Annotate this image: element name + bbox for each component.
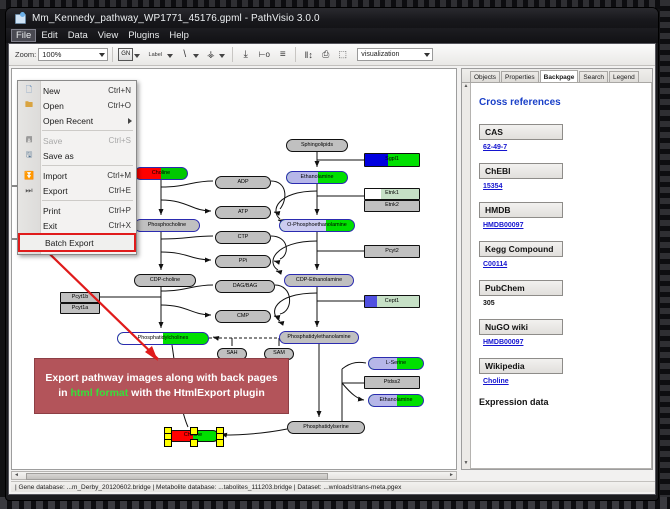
node-label: CDP-choline — [150, 278, 180, 283]
file-menu-item-open[interactable]: 🖿OpenCtrl+O — [18, 98, 136, 113]
scroll-left-icon[interactable]: ◄ — [12, 472, 21, 479]
selection-handle-1[interactable] — [190, 427, 198, 435]
node-label: Phosphocholine — [148, 223, 186, 228]
screen-frame-right — [660, 0, 670, 509]
xref-value-chebi[interactable]: 15354 — [483, 183, 643, 190]
toolbar-separator — [112, 47, 113, 62]
xref-value-hmdb[interactable]: HMDB00097 — [483, 222, 643, 229]
file-menu-item-label: Save — [40, 136, 109, 146]
xref-label-chebi: ChEBI — [479, 163, 563, 179]
node-label: Sgpl1 — [385, 157, 399, 162]
pathway-node-dagbag[interactable]: DAG/BAG — [215, 280, 275, 293]
interaction-icon: ⚶ — [207, 49, 215, 60]
node-label: Pcyt1a — [72, 306, 88, 311]
pathway-node-o-phosphoethanolamine[interactable]: O-Phosphoethanolamine — [279, 219, 355, 232]
line-icon: \ — [183, 49, 186, 60]
selection-handle-5[interactable] — [164, 439, 172, 447]
xref-label-pubchem: PubChem — [479, 280, 563, 296]
pathway-node-cdp-choline[interactable]: CDP-choline — [134, 274, 196, 287]
file-menu-item-label: Open Recent — [40, 116, 131, 126]
node-label: Pcyt2 — [385, 249, 398, 254]
chevron-down-icon — [99, 53, 105, 57]
save-as-icon: 🖫 — [18, 149, 40, 163]
save-disk-icon: 🖪 — [18, 134, 40, 148]
interaction-tool-button[interactable]: ⚶ — [203, 47, 218, 62]
tab-objects[interactable]: Objects — [470, 71, 500, 82]
open-folder-icon: 🖿 — [18, 99, 40, 113]
label-tool-button[interactable]: Label — [144, 47, 166, 62]
zoom-label: Zoom: — [15, 50, 36, 59]
tab-properties[interactable]: Properties — [501, 71, 539, 82]
file-menu-item-label: Save as — [40, 151, 131, 161]
menu-plugins[interactable]: Plugins — [123, 29, 164, 42]
status-bar: | Gene database: ...m_Derby_20120602.bri… — [11, 481, 655, 492]
file-menu-item-print[interactable]: PrintCtrl+P — [18, 203, 136, 218]
xref-value-kegg-compound[interactable]: C00114 — [483, 261, 643, 268]
file-menu-item-label: Import — [40, 171, 107, 181]
align-top-button[interactable]: ⤓ — [238, 47, 253, 62]
annotation-callout: Export pathway images along with back pa… — [34, 358, 289, 414]
node-label: Pcyt1b — [72, 295, 88, 300]
print-button[interactable]: ⎙ — [318, 47, 333, 62]
expression-data-heading: Expression data — [479, 397, 643, 407]
xref-label-wikipedia: Wikipedia — [479, 358, 563, 374]
xref-value-nugo-wiki[interactable]: HMDB00097 — [483, 339, 643, 346]
status-text: | Gene database: ...m_Derby_20120602.bri… — [15, 484, 401, 491]
file-menu-item-label: Batch Export — [42, 238, 129, 248]
file-menu-item-label: Open — [40, 101, 108, 111]
node-label: Ethanolamine — [380, 398, 413, 403]
file-menu-item-exit[interactable]: ExitCtrl+X — [18, 218, 136, 233]
toolbar-separator-2 — [232, 47, 233, 62]
title-bar: Mm_Kennedy_pathway_WP1771_45176.gpml - P… — [6, 8, 658, 28]
file-menu-item-batch-export[interactable]: Batch Export — [18, 233, 136, 252]
node-label: CDP-Ethanolamine — [296, 278, 342, 283]
tab-backpage[interactable]: Backpage — [540, 70, 579, 82]
callout-highlight: html format — [71, 387, 129, 399]
file-menu-item-new[interactable]: 🗋NewCtrl+N — [18, 83, 136, 98]
visualization-value: visualization — [361, 51, 399, 58]
xref-label-hmdb: HMDB — [479, 202, 563, 218]
xref-label-kegg-compound: Kegg Compound — [479, 241, 563, 257]
pathway-node-ctp[interactable]: CTP — [215, 231, 271, 244]
pathway-node-ppi[interactable]: PPi — [215, 255, 271, 268]
pathway-node-pcyt1b[interactable]: Pcyt1b — [60, 292, 100, 303]
sidebar-tabs: Objects Properties Backpage Search Legen… — [462, 69, 652, 83]
align-middle-button[interactable]: ⊢o — [255, 47, 273, 62]
scroll-down-icon[interactable]: ▼ — [462, 460, 470, 467]
import-icon: ⏬ — [18, 171, 40, 180]
chevron-down-icon — [424, 53, 430, 57]
interaction-dropdown-icon[interactable] — [219, 54, 225, 58]
node-label: Phosphatidylserine — [303, 425, 349, 430]
line-dropdown-icon[interactable] — [193, 54, 199, 58]
toolbar: Zoom: 100% GN Label \ — [9, 44, 655, 66]
node-label: ADP — [237, 180, 248, 185]
pathway-node-phosphatidylcholines[interactable]: Phosphatidylcholines — [117, 332, 209, 345]
file-menu-item-accelerator: Ctrl+P — [109, 206, 136, 215]
menu-data[interactable]: Data — [63, 29, 93, 42]
menu-edit[interactable]: Edit — [36, 29, 62, 42]
node-label: L-Serine — [386, 361, 406, 366]
pathway-node-atp[interactable]: ATP — [215, 206, 271, 219]
file-menu-item-accelerator: Ctrl+O — [108, 101, 136, 110]
file-menu-item-accelerator: Ctrl+S — [109, 136, 136, 145]
canvas-horizontal-scrollbar[interactable]: ◄ ► — [11, 471, 457, 480]
file-menu-item-accelerator: Ctrl+M — [107, 171, 136, 180]
tab-legend[interactable]: Legend — [609, 71, 639, 82]
cross-reference-list: CAS62-49-7ChEBI15354HMDBHMDB00097Kegg Co… — [479, 124, 643, 385]
selection-handle-6[interactable] — [190, 439, 198, 447]
pathway-node-pcyt1a[interactable]: Pcyt1a — [60, 303, 100, 314]
file-menu-item-label: Print — [40, 206, 109, 216]
datanode-icon: GN — [118, 48, 133, 61]
zoom-value: 100% — [42, 50, 61, 59]
file-menu-item-import[interactable]: ⏬ImportCtrl+M — [18, 168, 136, 183]
pathway-node-choline-top[interactable]: Choline — [134, 167, 188, 180]
pathway-node-etnk1[interactable]: Etnk1 — [364, 188, 420, 200]
pathway-node-etnk2[interactable]: Etnk2 — [364, 200, 420, 212]
scrollbar-thumb[interactable] — [26, 473, 328, 480]
file-menu-item-save: 🖪SaveCtrl+S — [18, 133, 136, 148]
pathvisio-window: Mm_Kennedy_pathway_WP1771_45176.gpml - P… — [6, 8, 658, 500]
export-icon: ⏭ — [18, 186, 40, 196]
file-menu-item-accelerator: Ctrl+E — [109, 186, 136, 195]
file-menu-item-accelerator: Ctrl+N — [108, 86, 136, 95]
node-label: SAH — [226, 351, 237, 356]
toolbar-separator-3 — [295, 47, 296, 62]
pathway-node-phosphatidylethanolamine[interactable]: Phosphatidylethanolamine — [279, 331, 359, 344]
tab-search[interactable]: Search — [579, 71, 608, 82]
selection-handle-7[interactable] — [216, 439, 224, 447]
file-menu-item-label: Exit — [40, 221, 109, 231]
datanode-dropdown-icon[interactable] — [134, 54, 140, 58]
file-menu-item-label: Export — [40, 186, 109, 196]
menu-divider — [42, 130, 133, 131]
scroll-up-icon[interactable]: ▲ — [462, 83, 470, 90]
pathway-node-adp[interactable]: ADP — [215, 176, 271, 189]
node-label: CTP — [238, 235, 249, 240]
backpage-content: Cross references CAS62-49-7ChEBI15354HMD… — [470, 83, 652, 469]
columns-button[interactable]: ‖↕ — [301, 47, 316, 62]
align-stack-button[interactable]: ≡ — [275, 47, 290, 62]
align-middle-icon: ⊢o — [259, 50, 270, 59]
legend-icon: ⬚ — [339, 49, 348, 60]
node-label: Sphingolipids — [301, 143, 333, 148]
label-dropdown-icon[interactable] — [167, 54, 173, 58]
align-stack-icon: ≡ — [280, 49, 286, 60]
pathway-node-ethanolamine-2[interactable]: Ethanolamine — [368, 394, 424, 407]
node-label: Phosphatidylcholines — [138, 336, 189, 341]
zoom-combobox[interactable]: 100% — [38, 48, 108, 61]
new-document-icon: 🗋 — [18, 84, 40, 98]
file-menu-item-open-recent[interactable]: Open Recent — [18, 113, 136, 128]
menu-divider — [42, 200, 133, 201]
callout-text-after: with the HtmlExport plugin — [128, 387, 265, 399]
pathway-node-ptdss2[interactable]: Ptdss2 — [364, 376, 420, 389]
menu-file[interactable]: File — [11, 29, 36, 42]
node-label: Phosphatidylethanolamine — [287, 335, 350, 340]
node-fill-left — [365, 189, 381, 199]
node-label: Ethanolamine — [301, 175, 334, 180]
xref-value-cas[interactable]: 62-49-7 — [483, 144, 643, 151]
node-label: O-Phosphoethanolamine — [287, 223, 347, 228]
file-menu-item-accelerator: Ctrl+X — [109, 221, 136, 230]
print-icon: ⎙ — [322, 49, 329, 60]
align-top-icon: ⤓ — [244, 49, 248, 60]
pathway-node-cept1[interactable]: Cept1 — [364, 295, 420, 308]
sidebar-panel: Objects Properties Backpage Search Legen… — [461, 68, 653, 470]
pathway-node-sgpl1[interactable]: Sgpl1 — [364, 153, 420, 167]
columns-icon: ‖↕ — [305, 50, 313, 60]
pathway-node-phosphocholine[interactable]: Phosphocholine — [134, 219, 200, 232]
cross-references-heading: Cross references — [479, 97, 643, 108]
node-label: SAM — [273, 351, 285, 356]
xref-label-nugo-wiki: NuGO wiki — [479, 319, 563, 335]
xref-value-pubchem: 305 — [483, 300, 643, 307]
label-icon: Label — [149, 52, 162, 58]
submenu-arrow-icon — [128, 118, 132, 124]
node-label: Choline — [152, 171, 170, 176]
pathway-node-pcyt2[interactable]: Pcyt2 — [364, 245, 420, 258]
line-tool-button[interactable]: \ — [177, 47, 192, 62]
menu-bar: File Edit Data View Plugins Help — [6, 28, 658, 43]
client-area: Zoom: 100% GN Label \ — [8, 43, 656, 495]
pathway-node-ethanolamine-1[interactable]: Ethanolamine — [286, 171, 348, 184]
pathway-node-cdp-ethanolamine[interactable]: CDP-Ethanolamine — [284, 274, 354, 287]
pathway-node-cmp[interactable]: CMP — [215, 310, 271, 323]
xref-value-wikipedia[interactable]: Choline — [483, 378, 643, 385]
file-menu-dropdown[interactable]: 🗋NewCtrl+N🖿OpenCtrl+OOpen Recent🖪SaveCtr… — [17, 80, 137, 255]
node-label: PPi — [239, 259, 247, 264]
pathway-node-phosphatidylserine[interactable]: Phosphatidylserine — [287, 421, 365, 434]
file-menu-item-label: New — [40, 86, 108, 96]
node-fill-left — [365, 296, 377, 307]
node-label: ATP — [238, 210, 248, 215]
node-label: Etnk2 — [385, 203, 399, 208]
scroll-right-icon[interactable]: ► — [447, 472, 456, 479]
legend-button[interactable]: ⬚ — [335, 47, 350, 62]
window-title: Mm_Kennedy_pathway_WP1771_45176.gpml - P… — [32, 13, 320, 24]
node-label: CMP — [237, 314, 249, 319]
menu-divider — [42, 165, 133, 166]
file-menu-item-export[interactable]: ⏭ExportCtrl+E — [18, 183, 136, 198]
pathway-node-sphingolipids[interactable]: Sphingolipids — [286, 139, 348, 152]
menu-help[interactable]: Help — [164, 29, 194, 42]
node-label: Ptdss2 — [384, 380, 400, 385]
desktop-background: Mm_Kennedy_pathway_WP1771_45176.gpml - P… — [0, 0, 670, 509]
xref-label-cas: CAS — [479, 124, 563, 140]
pathway-node-l-serine[interactable]: L-Serine — [368, 357, 424, 370]
node-label: DAG/BAG — [233, 284, 258, 289]
menu-view[interactable]: View — [93, 29, 123, 42]
node-label: Etnk1 — [385, 191, 399, 196]
node-label: Cept1 — [385, 299, 399, 304]
pathvisio-icon — [14, 12, 27, 24]
datanode-tool-button[interactable]: GN — [118, 47, 133, 62]
visualization-combobox[interactable]: visualization — [357, 48, 433, 61]
file-menu-item-save-as[interactable]: 🖫Save as — [18, 148, 136, 163]
